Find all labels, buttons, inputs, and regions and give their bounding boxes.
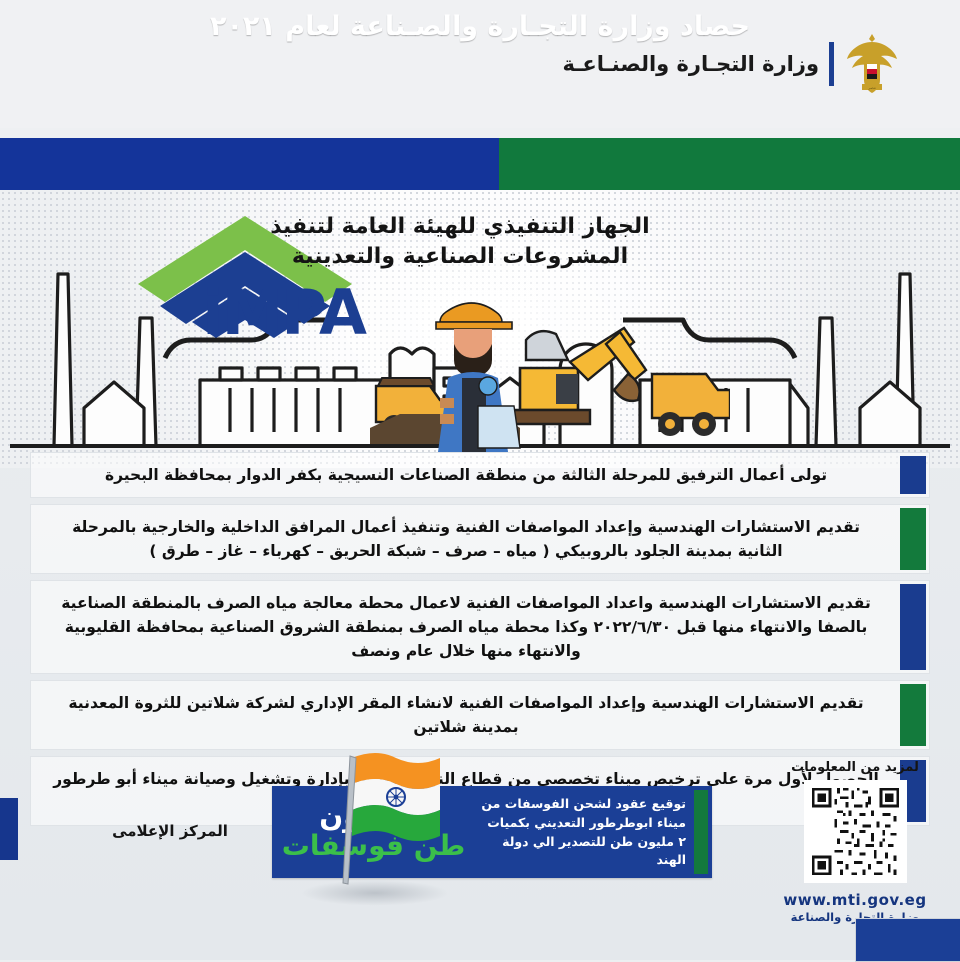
qr-label: لمزيد من المعلومات [770,760,940,775]
india-flag-icon [300,744,450,894]
left-blue-accent [0,798,18,860]
hero-title-line-2: المشروعات الصناعية والتعدينية [0,242,920,272]
mining-worker-illustration [370,278,730,468]
list-item-text: تقديم الاستشارات الهندسية وإعداد المواصف… [31,505,897,573]
item-accent-bar [900,456,926,494]
hero-section: iMPA [0,190,960,468]
banner-green-half [499,138,960,190]
hero-title: الجهاز التنفيذي للهيئة العامة لتنفيذ الم… [0,212,960,271]
banner-blue-half [0,138,499,190]
hero-title-line-1: الجهاز التنفيذي للهيئة العامة لتنفيذ [0,212,920,242]
infographic-page: مصر وزارة التجـارة والصنـاعـة حصاد وزارة… [0,0,960,960]
website-url[interactable]: www.mti.gov.eg [770,891,940,909]
list-item-text: تقديم الاستشارات الهندسية وإعداد المواصف… [31,681,897,749]
list-item: تقديم الاستشارات الهندسية واعداد المواصف… [30,580,930,674]
qr-code-icon[interactable] [804,780,907,883]
media-center-label: المركز الإعلامى [60,822,280,840]
svg-text:مصر: مصر [867,85,876,90]
page-title: وزارة التجـارة والصنـاعـة [562,52,819,76]
banner [0,138,960,190]
qr-section: لمزيد من المعلومات [770,760,940,924]
phosphate-green-accent [694,790,708,874]
item-accent-bar [900,508,926,570]
phosphate-description: توقيع عقود لشحن الفوسفات من ميناء ابوطرط… [475,786,694,878]
list-item-text: تقديم الاستشارات الهندسية واعداد المواصف… [31,581,897,673]
list-item: تقديم الاستشارات الهندسية وإعداد المواصف… [30,504,930,574]
impa-logo-wordmark: iMPA [202,276,365,349]
item-accent-bar [900,684,926,746]
banner-title: حصاد وزارة التجـارة والصـناعة لعام ٢٠٢١ [0,0,960,52]
list-item: تقديم الاستشارات الهندسية وإعداد المواصف… [30,680,930,750]
item-accent-bar [900,584,926,670]
bottom-right-blue-box [855,918,960,962]
